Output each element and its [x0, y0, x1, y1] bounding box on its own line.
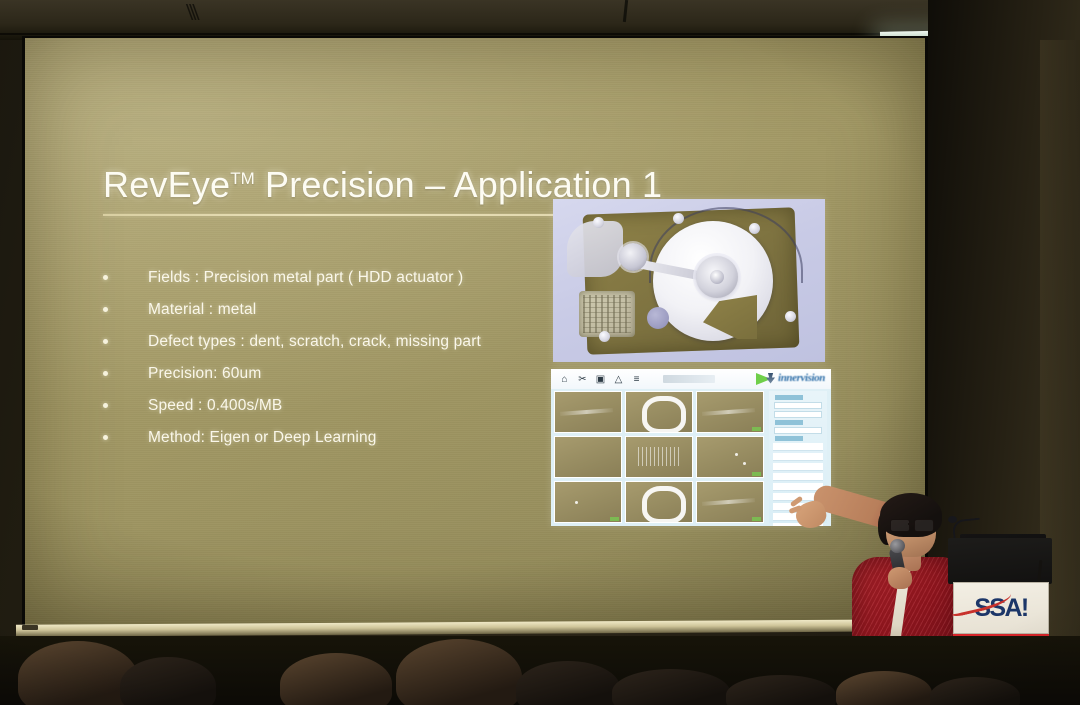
- audience-head: [396, 639, 522, 705]
- grid-tile[interactable]: [625, 481, 693, 523]
- panel-field[interactable]: [774, 427, 822, 434]
- list-item: Precision: 60um: [103, 358, 563, 390]
- defect-tag: [752, 427, 761, 431]
- result-row[interactable]: [773, 453, 823, 461]
- defect-spot: [743, 462, 746, 465]
- defect-tag: [752, 472, 761, 476]
- grid-tile[interactable]: [554, 391, 622, 433]
- bullet-text: Precision: 60um: [148, 365, 261, 383]
- audience-area: [0, 636, 1080, 705]
- bullet-text: Speed : 0.400s/MB: [148, 397, 282, 415]
- panel-heading: [775, 420, 803, 425]
- bullet-text: Fields : Precision metal part ( HDD actu…: [148, 269, 463, 287]
- list-item: Speed : 0.400s/MB: [103, 390, 563, 422]
- result-row[interactable]: [773, 473, 823, 481]
- audience-head: [726, 675, 836, 705]
- software-toolbar: ⌂ ✂ ▣ △ ≡ innervision: [551, 369, 831, 389]
- hdd-screw: [593, 217, 604, 228]
- bell-icon[interactable]: △: [613, 374, 624, 385]
- grid-tile[interactable]: [696, 481, 764, 523]
- defect-tag: [752, 517, 761, 521]
- lectern-brand-panel: SSA!: [953, 582, 1049, 634]
- hdd-screw: [785, 311, 796, 322]
- logo-text: innervision: [778, 372, 825, 384]
- panel-field[interactable]: [774, 411, 822, 418]
- presentation-photo: RevEyeTM Precision – Application 1 Field…: [0, 0, 1080, 705]
- panel-heading: [775, 395, 803, 400]
- panel-heading: [775, 436, 803, 441]
- list-item: Material : metal: [103, 294, 563, 326]
- title-underline: [103, 214, 621, 216]
- bullet-dot-icon: [103, 339, 108, 344]
- glasses-lens-left: [890, 519, 910, 532]
- audience-head: [836, 671, 932, 705]
- software-logo: innervision: [766, 372, 825, 384]
- presenter-glasses: [890, 519, 934, 530]
- lectern-top: [948, 538, 1052, 584]
- audience-head: [930, 677, 1020, 705]
- home-icon[interactable]: ⌂: [559, 374, 570, 385]
- list-item: Defect types : dent, scratch, crack, mis…: [103, 326, 563, 358]
- logo-mark-icon: [766, 373, 775, 384]
- defect-spot: [575, 501, 578, 504]
- ruler-icon[interactable]: ≡: [631, 374, 642, 385]
- slide-title-trademark: TM: [230, 169, 255, 188]
- bullet-text: Material : metal: [148, 301, 256, 319]
- audience-head: [280, 653, 392, 705]
- grid-tile[interactable]: [554, 481, 622, 523]
- ceiling-marking: [178, 4, 204, 20]
- bullet-text: Method: Eigen or Deep Learning: [148, 429, 377, 447]
- grid-tile[interactable]: [625, 436, 693, 478]
- tools-icon[interactable]: ✂: [577, 374, 588, 385]
- grid-tile[interactable]: [554, 436, 622, 478]
- defect-line-pattern: [638, 447, 679, 465]
- defect-image-grid: [554, 391, 764, 523]
- grid-tile[interactable]: [696, 436, 764, 478]
- defect-ring-marker: [642, 486, 686, 523]
- bullet-dot-icon: [103, 307, 108, 312]
- grid-tile[interactable]: [696, 391, 764, 433]
- slide-title-main: RevEye: [103, 164, 230, 205]
- defect-tag: [610, 517, 619, 521]
- hdd-breather-hole: [647, 307, 669, 329]
- hdd-screw: [749, 223, 760, 234]
- hdd-pivot-bearing: [619, 243, 647, 271]
- audience-head: [612, 669, 730, 705]
- defect-ring-marker: [642, 396, 686, 433]
- list-item: Fields : Precision metal part ( HDD actu…: [103, 262, 563, 294]
- screen-bottom-nub: [22, 625, 38, 630]
- glasses-lens-right: [914, 519, 934, 532]
- bullet-dot-icon: [103, 275, 108, 280]
- result-row[interactable]: [773, 463, 823, 471]
- bullet-dot-icon: [103, 371, 108, 376]
- bullet-text: Defect types : dent, scratch, crack, mis…: [148, 333, 481, 351]
- hdd-preamp-traces: [583, 295, 631, 333]
- camera-icon[interactable]: ▣: [595, 374, 606, 385]
- defect-streak: [702, 498, 755, 506]
- hdd-spindle-core: [710, 270, 724, 284]
- audience-head: [120, 657, 216, 705]
- bullet-dot-icon: [103, 435, 108, 440]
- hdd-screw: [673, 213, 684, 224]
- hdd-photo: [553, 199, 825, 362]
- list-item: Method: Eigen or Deep Learning: [103, 422, 563, 454]
- defect-streak: [560, 408, 613, 416]
- presenter-mic-hand: [888, 567, 912, 589]
- panel-field[interactable]: [774, 402, 822, 409]
- grid-tile[interactable]: [625, 391, 693, 433]
- inspection-software-screenshot: ⌂ ✂ ▣ △ ≡ innervision: [551, 369, 831, 526]
- hdd-screw: [599, 331, 610, 342]
- bullet-dot-icon: [103, 403, 108, 408]
- defect-streak: [702, 408, 755, 416]
- result-row[interactable]: [773, 443, 823, 451]
- slide-bullet-list: Fields : Precision metal part ( HDD actu…: [103, 262, 563, 454]
- audience-head: [516, 661, 620, 705]
- search-input[interactable]: [663, 375, 715, 383]
- hdd-magnet: [567, 221, 623, 277]
- defect-spot: [735, 453, 738, 456]
